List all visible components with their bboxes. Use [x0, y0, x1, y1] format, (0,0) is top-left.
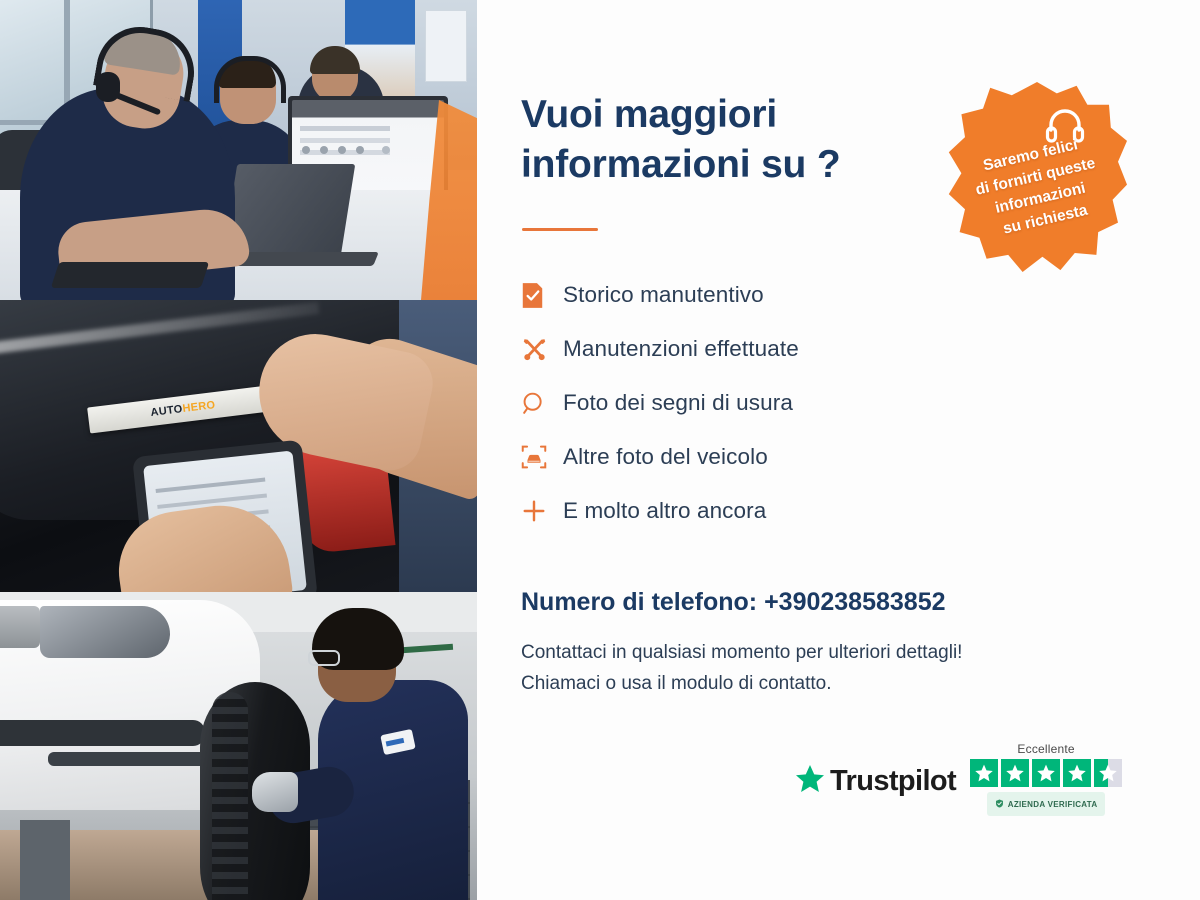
trustpilot-rating: Eccellente — [970, 742, 1122, 816]
call-center-agents-photo — [0, 0, 477, 300]
magnifier-icon — [521, 391, 563, 416]
headline-line-1: Vuoi maggiori — [521, 90, 941, 140]
document-check-icon — [521, 282, 563, 309]
ruler-brand-hero: HERO — [182, 399, 216, 415]
star-icon — [1063, 759, 1091, 787]
car-lower-vent — [48, 752, 208, 766]
ruler-brand-text: AUTOHERO — [150, 399, 216, 419]
mechanic-glasses-icon — [308, 650, 340, 666]
star-icon — [1001, 759, 1029, 787]
crossed-tools-icon — [521, 336, 563, 363]
contact-line-1: Contattaci in qualsiasi momento per ulte… — [521, 638, 1141, 669]
list-item-label: Manutenzioni effettuate — [563, 336, 799, 362]
star-icon — [1032, 759, 1060, 787]
feature-list: Storico manutentivo Manutenzi — [521, 268, 941, 538]
content-panel: Vuoi maggiori informazioni su ? Saremo f… — [477, 0, 1200, 900]
verified-label: AZIENDA VERIFICATA — [1008, 800, 1098, 809]
trustpilot-star-icon — [795, 764, 825, 798]
list-item: Storico manutentivo — [521, 268, 941, 322]
car-scan-icon — [521, 444, 563, 470]
rating-label: Eccellente — [1017, 742, 1074, 756]
second-agent-headset-icon — [214, 56, 286, 103]
half-star-icon — [1094, 759, 1122, 787]
car-lift-post — [20, 820, 70, 900]
mechanic-glove — [252, 772, 298, 812]
phone-number[interactable]: +390238583852 — [764, 588, 945, 616]
list-item: Altre foto del veicolo — [521, 430, 941, 484]
phone-line: Numero di telefono: +390238583852 — [521, 588, 946, 617]
headline-line-2: informazioni su ? — [521, 140, 941, 190]
list-item: E molto altro ancora — [521, 484, 941, 538]
photo-column: AUTOHERO — [0, 0, 477, 900]
phone-label: Numero di telefono: — [521, 588, 757, 616]
vehicle-inspection-ruler-photo: AUTOHERO — [0, 300, 477, 592]
list-item-label: E molto altro ancora — [563, 498, 766, 524]
trustpilot-logo: Trustpilot — [795, 764, 956, 798]
list-item-label: Storico manutentivo — [563, 282, 764, 308]
car-headlight — [40, 606, 170, 658]
trustpilot-wordmark: Trustpilot — [830, 765, 956, 798]
wall-notice — [425, 10, 467, 82]
desk-tablet — [51, 262, 209, 288]
request-info-badge: Saremo felici di fornirti queste informa… — [947, 82, 1127, 272]
status-badge: AZIENDA VERIFICATA — [987, 792, 1106, 816]
promo-page: AUTOHERO — [0, 0, 1200, 900]
star-icon — [970, 759, 998, 787]
list-item: Manutenzioni effettuate — [521, 322, 941, 376]
title-underline-divider — [522, 228, 598, 231]
list-item: Foto dei segni di usura — [521, 376, 941, 430]
star-rating — [970, 759, 1122, 787]
plus-icon — [521, 498, 563, 524]
trustpilot-widget[interactable]: Trustpilot Eccellente — [795, 742, 1122, 816]
mechanic-tyre-inspection-photo — [0, 592, 477, 900]
list-item-label: Foto dei segni di usura — [563, 390, 793, 416]
ruler-brand-auto: AUTO — [150, 403, 183, 419]
shield-check-icon — [995, 795, 1004, 813]
tyre-tread — [212, 692, 248, 900]
contact-line-2: Chiamaci o usa il modulo di contatto. — [521, 669, 1141, 700]
contact-description: Contattaci in qualsiasi momento per ulte… — [521, 638, 1141, 700]
car-grille — [0, 606, 40, 648]
car-bumper-vent — [0, 720, 205, 746]
page-title: Vuoi maggiori informazioni su ? — [521, 90, 941, 190]
list-item-label: Altre foto del veicolo — [563, 444, 768, 470]
